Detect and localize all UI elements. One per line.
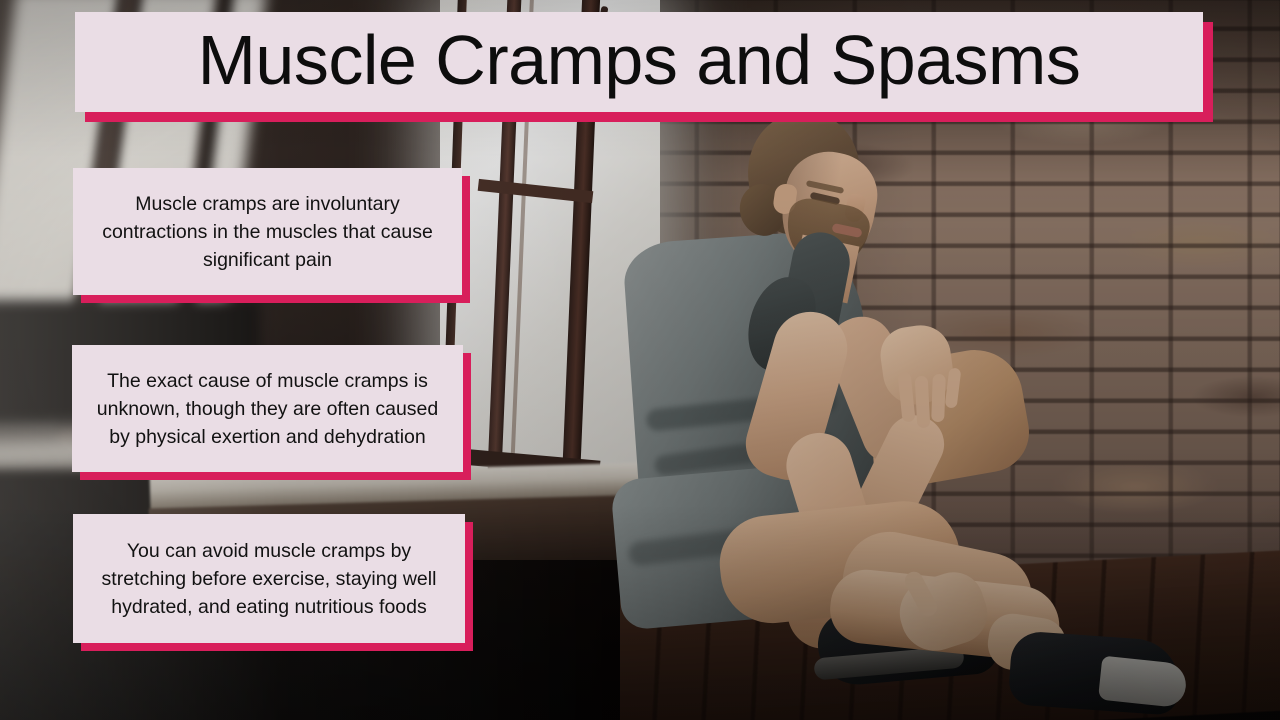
fact-card-panel: The exact cause of muscle cramps is unkn… (72, 345, 463, 472)
fact-card-panel: Muscle cramps are involuntary contractio… (73, 168, 462, 295)
page-title: Muscle Cramps and Spasms (75, 25, 1203, 99)
finger (915, 376, 931, 429)
fact-text-causes: The exact cause of muscle cramps is unkn… (72, 367, 463, 451)
fact-card-definition: Muscle cramps are involuntary contractio… (73, 168, 462, 295)
seated-man (600, 100, 1070, 720)
fact-text-prevention: You can avoid muscle cramps by stretchin… (73, 537, 465, 621)
slide: Muscle Cramps and Spasms Muscle cramps a… (0, 0, 1280, 720)
title-card: Muscle Cramps and Spasms (75, 12, 1203, 112)
fact-card-causes: The exact cause of muscle cramps is unkn… (72, 345, 463, 472)
title-card-panel: Muscle Cramps and Spasms (75, 12, 1203, 112)
finger (931, 374, 946, 422)
fact-text-definition: Muscle cramps are involuntary contractio… (73, 190, 462, 274)
fact-card-prevention: You can avoid muscle cramps by stretchin… (73, 514, 465, 643)
fact-card-panel: You can avoid muscle cramps by stretchin… (73, 514, 465, 643)
